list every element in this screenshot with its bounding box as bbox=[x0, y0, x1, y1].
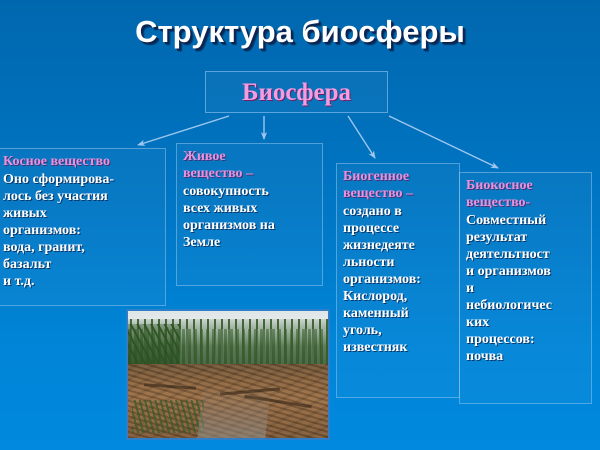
photo-track bbox=[197, 387, 270, 438]
page-title: Структура биосферы bbox=[0, 14, 600, 50]
category-box-biogennoe-veshchestvo: Биогенное вещество – создано в процессе … bbox=[336, 163, 460, 398]
category-box-biokosnoe-veshchestvo: Биокосное вещество- Совместный результат… bbox=[459, 172, 592, 404]
category-body: совокупность всех живых организмов на Зе… bbox=[183, 183, 317, 251]
category-heading: Биогенное вещество – bbox=[343, 168, 454, 202]
category-body: создано в процессе жизнедеяте льности ор… bbox=[343, 203, 454, 356]
arrow-to-biogennoe bbox=[348, 116, 375, 158]
photo-grass-patch bbox=[132, 400, 204, 433]
deforestation-photo bbox=[126, 309, 330, 440]
category-heading: Биокосное вещество- bbox=[466, 177, 586, 211]
arrow-to-biokosnoe bbox=[389, 116, 498, 168]
slide-canvas: Структура биосферы Биосфера Косное вещес… bbox=[0, 0, 600, 450]
category-box-zhivoe-veshchestvo: Живое вещество – совокупность всех живых… bbox=[176, 143, 323, 286]
category-heading: Живое вещество – bbox=[183, 148, 317, 182]
category-heading: Косное вещество bbox=[3, 153, 160, 170]
root-node-label: Биосфера bbox=[206, 72, 387, 114]
category-body: Совместный результат деятельтност и орга… bbox=[466, 212, 586, 365]
root-node-biosphere: Биосфера bbox=[205, 71, 388, 113]
category-body: Оно сформирова- лось без участия живых о… bbox=[3, 171, 160, 290]
arrow-to-kosnoe bbox=[138, 116, 229, 145]
category-box-kosnoe-veshchestvo: Косное вещество Оно сформирова- лось без… bbox=[0, 148, 166, 306]
